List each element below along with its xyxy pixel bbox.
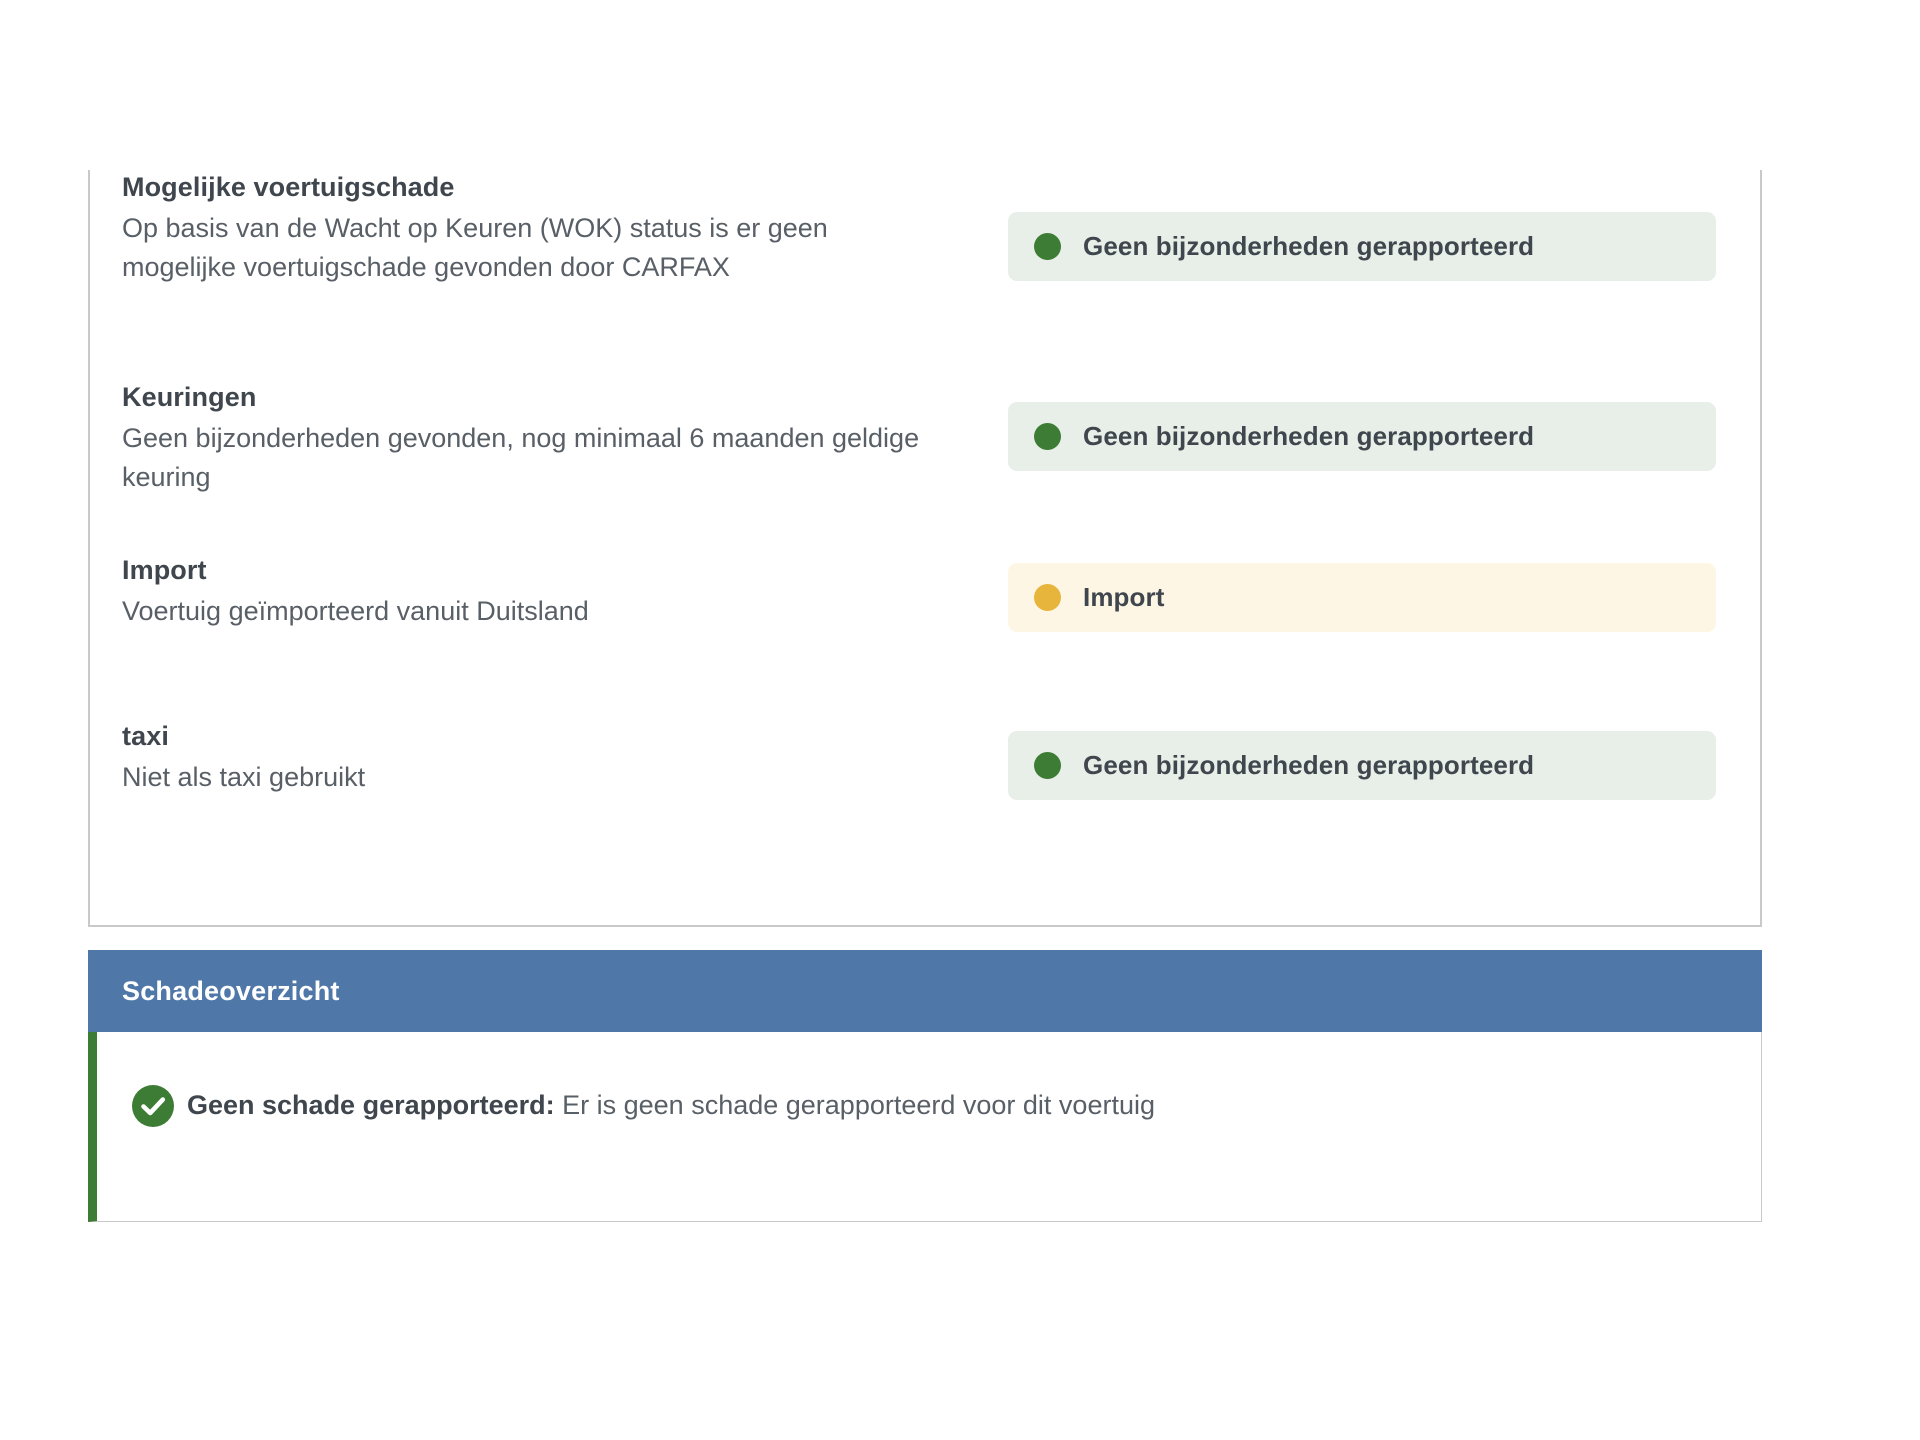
check-text-block: Keuringen Geen bijzonderheden gevonden, … <box>90 380 1008 496</box>
badge-slot: Import <box>1008 553 1760 632</box>
check-description: Geen bijzonderheden gevonden, nog minima… <box>122 419 922 497</box>
check-description: Niet als taxi gebruikt <box>122 758 922 797</box>
check-circle-icon <box>131 1084 175 1128</box>
damage-overview-header: Schadeoverzicht <box>88 950 1762 1032</box>
check-text-block: Import Voertuig geïmporteerd vanuit Duit… <box>90 553 1008 631</box>
badge-slot: Geen bijzonderheden gerapporteerd <box>1008 719 1760 800</box>
status-dot-icon <box>1034 584 1061 611</box>
status-badge-label: Geen bijzonderheden gerapporteerd <box>1083 421 1534 452</box>
damage-status-detail: Er is geen schade gerapporteerd voor dit… <box>555 1090 1155 1120</box>
damage-overview-body: Geen schade gerapporteerd: Er is geen sc… <box>88 1032 1762 1222</box>
status-badge-label: Import <box>1083 582 1164 613</box>
check-title: Keuringen <box>122 380 1008 416</box>
status-dot-icon <box>1034 752 1061 779</box>
check-row: Keuringen Geen bijzonderheden gevonden, … <box>90 380 1760 496</box>
check-title: Import <box>122 553 1008 589</box>
status-dot-icon <box>1034 423 1061 450</box>
status-badge[interactable]: Import <box>1008 563 1716 632</box>
vehicle-report-page: Mogelijke voertuigschade Op basis van de… <box>0 0 1920 1440</box>
status-badge[interactable]: Geen bijzonderheden gerapporteerd <box>1008 731 1716 800</box>
check-description: Voertuig geïmporteerd vanuit Duitsland <box>122 592 922 631</box>
check-row: Mogelijke voertuigschade Op basis van de… <box>90 170 1760 286</box>
status-badge-label: Geen bijzonderheden gerapporteerd <box>1083 231 1534 262</box>
damage-status-text: Geen schade gerapporteerd: Er is geen sc… <box>187 1088 1155 1123</box>
damage-overview-title: Schadeoverzicht <box>122 976 340 1007</box>
status-badge-label: Geen bijzonderheden gerapporteerd <box>1083 750 1534 781</box>
status-badge[interactable]: Geen bijzonderheden gerapporteerd <box>1008 212 1716 281</box>
check-text-block: Mogelijke voertuigschade Op basis van de… <box>90 170 1008 286</box>
status-dot-icon <box>1034 233 1061 260</box>
check-row: taxi Niet als taxi gebruikt Geen bijzond… <box>90 719 1760 800</box>
vehicle-checks-card: Mogelijke voertuigschade Op basis van de… <box>88 170 1762 927</box>
damage-overview-panel: Schadeoverzicht Geen schade gerapporteer… <box>88 950 1762 1222</box>
check-title: Mogelijke voertuigschade <box>122 170 1008 206</box>
badge-slot: Geen bijzonderheden gerapporteerd <box>1008 170 1760 281</box>
check-description: Op basis van de Wacht op Keuren (WOK) st… <box>122 209 922 287</box>
damage-status-label: Geen schade gerapporteerd: <box>187 1090 555 1120</box>
check-row: Import Voertuig geïmporteerd vanuit Duit… <box>90 553 1760 632</box>
damage-status-message: Geen schade gerapporteerd: Er is geen sc… <box>131 1084 1155 1128</box>
check-text-block: taxi Niet als taxi gebruikt <box>90 719 1008 797</box>
badge-slot: Geen bijzonderheden gerapporteerd <box>1008 380 1760 471</box>
check-title: taxi <box>122 719 1008 755</box>
status-badge[interactable]: Geen bijzonderheden gerapporteerd <box>1008 402 1716 471</box>
